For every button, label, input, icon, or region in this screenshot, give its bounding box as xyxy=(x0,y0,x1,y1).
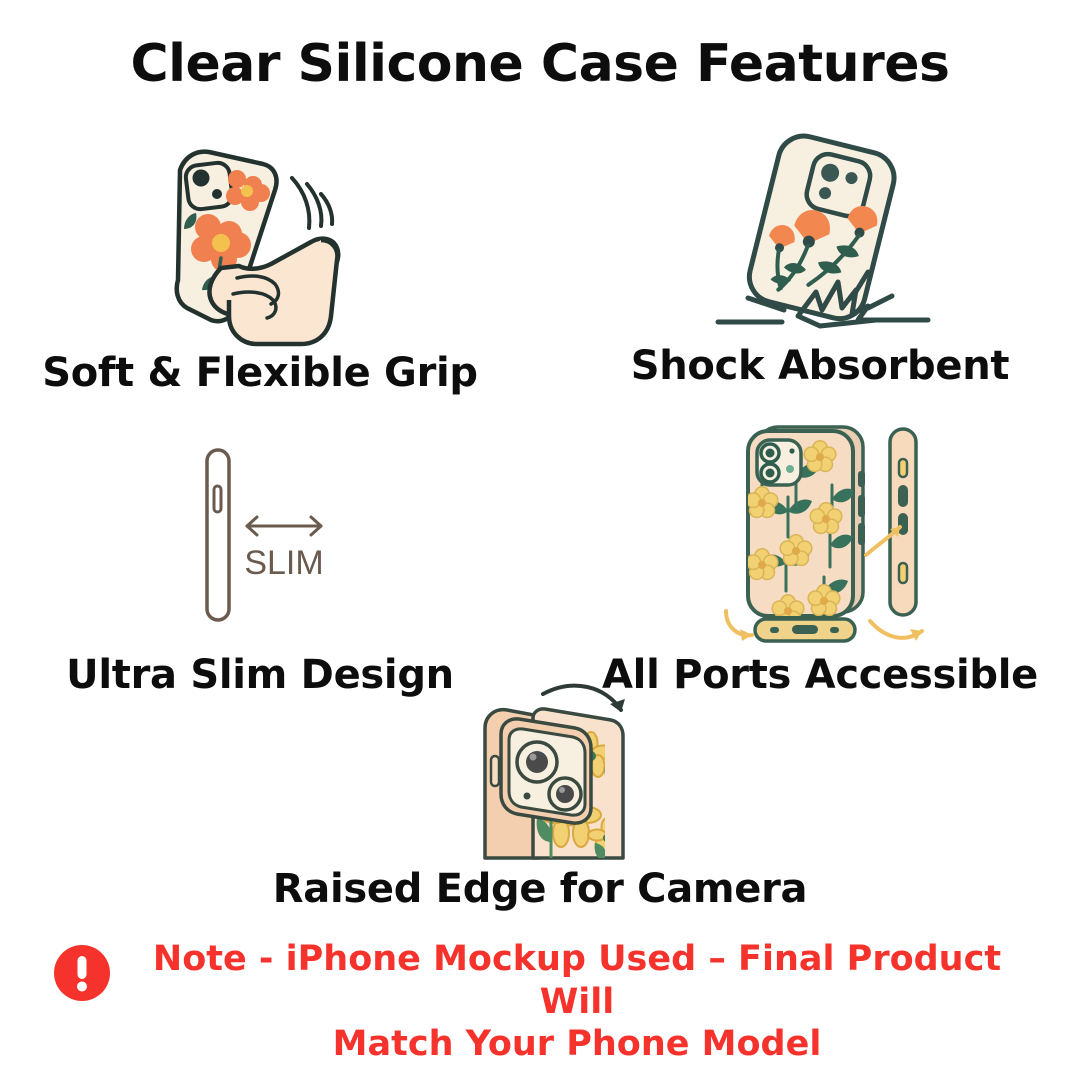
note-banner: Note - iPhone Mockup Used – Final Produc… xyxy=(0,938,1080,1066)
feature-label-soft-flexible-grip: Soft & Flexible Grip xyxy=(0,350,520,396)
page-title: Clear Silicone Case Features xyxy=(0,34,1080,94)
raised-edge-camera-illustration xyxy=(455,672,655,862)
feature-label-shock-absorbent: Shock Absorbent xyxy=(560,343,1080,389)
exclamation-circle-icon xyxy=(53,944,111,1007)
double-arrow-horizontal-icon xyxy=(247,517,321,535)
all-ports-illustration xyxy=(700,415,945,655)
feature-label-raised-edge-camera: Raised Edge for Camera xyxy=(180,866,900,912)
shock-absorbent-illustration xyxy=(700,120,945,345)
ultra-slim-illustration: SLIM xyxy=(195,440,355,630)
feature-label-ultra-slim-design: Ultra Slim Design xyxy=(0,652,520,698)
soft-flexible-grip-illustration xyxy=(125,118,395,348)
note-line-1: Note - iPhone Mockup Used – Final Produc… xyxy=(127,938,1027,1023)
slim-caption: SLIM xyxy=(244,544,323,582)
note-line-2: Match Your Phone Model xyxy=(127,1023,1027,1066)
note-text: Note - iPhone Mockup Used – Final Produc… xyxy=(127,938,1027,1066)
